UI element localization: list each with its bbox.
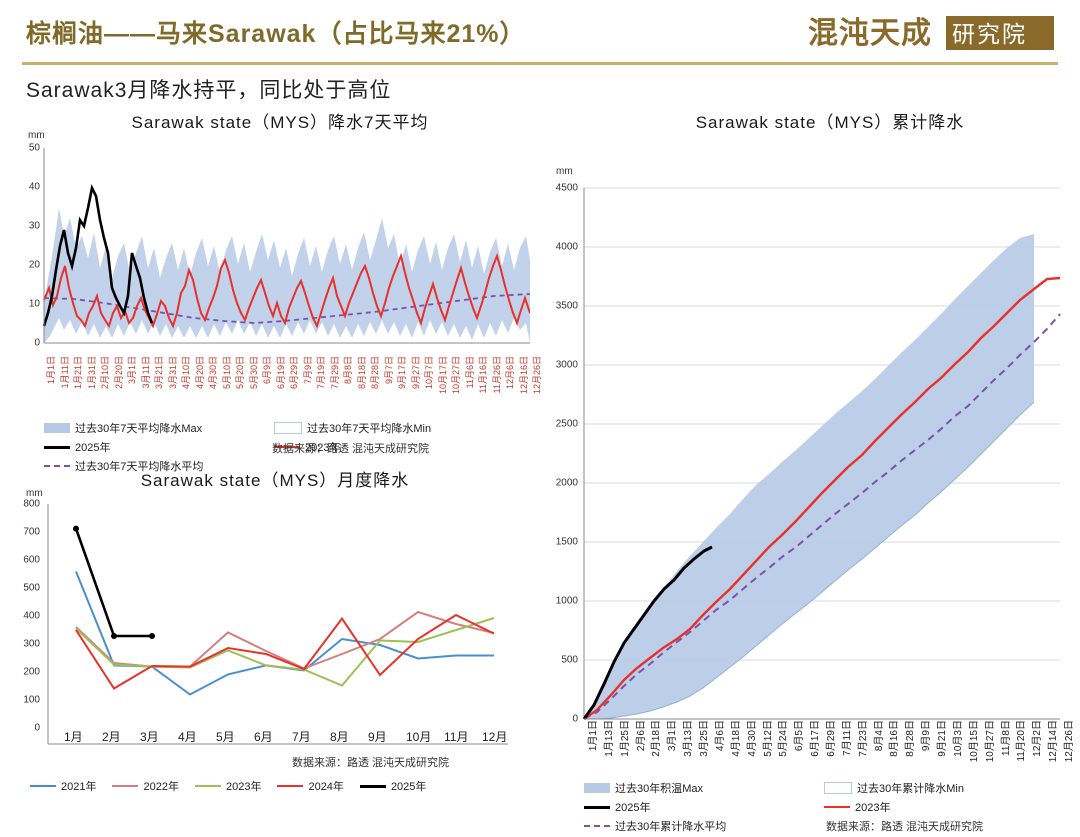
xtick: 5月12日 [759, 720, 774, 757]
legend-label: 过去30年7天平均降水Min [307, 420, 431, 436]
series-2025-line [76, 529, 152, 636]
chart-cumulative-source: 数据来源：路透 混沌天成研究院 [826, 818, 983, 834]
xtick: 4月20日 [193, 356, 206, 389]
xtick: 7月11日 [838, 720, 853, 756]
xtick: 12月2日 [1028, 720, 1043, 757]
xtick: 6月29日 [822, 720, 837, 757]
xtick: 5月10日 [220, 356, 233, 389]
legend-label: 过去30年7天平均降水Max [75, 420, 202, 436]
series-2023-line [76, 618, 494, 686]
xtick: 10月7日 [422, 356, 435, 389]
page-header: 棕榈油——马来Sarawak（占比马来21%） 混沌天成 研究院 [0, 0, 1080, 62]
legend-label: 2025年 [75, 439, 110, 455]
chart-daily7-plot [10, 123, 530, 373]
chart-cumulative-panel: Sarawak state（MYS）累计降水 mm 4500 4000 3500… [540, 108, 1080, 808]
xtick: 10月17日 [436, 356, 449, 394]
series-2024-line [76, 615, 494, 689]
legend-swatch-2021 [30, 785, 56, 787]
xtick: 2月10日 [98, 356, 111, 389]
xtick: 10月27日 [449, 356, 462, 394]
legend-swatch-2022 [112, 785, 138, 787]
xtick: 6月5日 [790, 720, 805, 751]
legend-label: 2022年 [143, 778, 178, 794]
xtick: 5月24日 [774, 720, 789, 757]
xtick: 1月31日 [85, 356, 98, 389]
chart-monthly-source: 数据来源：路透 混沌天成研究院 [292, 754, 449, 770]
chart-cumulative-title: Sarawak state（MYS）累计降水 [580, 108, 1080, 133]
xtick: 6月29日 [287, 356, 300, 389]
xtick: 9月 [368, 728, 387, 745]
band-area [584, 234, 1034, 719]
xtick: 8月4日 [870, 720, 885, 751]
legend-swatch-2023 [824, 806, 850, 808]
xtick: 7月 [292, 728, 311, 745]
chart-monthly-legend: 2021年 2022年 2023年 2024年 2025年 [30, 778, 530, 797]
xtick: 10月27日 [981, 720, 996, 762]
xtick: 5月20日 [233, 356, 246, 389]
xtick: 3月31日 [166, 356, 179, 389]
xtick: 4月30日 [206, 356, 219, 389]
xtick: 3月11日 [139, 356, 152, 388]
xtick: 12月 [482, 728, 507, 745]
xtick: 8月28日 [368, 356, 381, 389]
xtick: 2月20日 [112, 356, 125, 389]
chart-monthly-panel: Sarawak state（MYS）月度降水 mm 800 700 600 50… [10, 466, 530, 806]
xtick: 1月 [64, 728, 83, 745]
legend-swatch-max [584, 783, 610, 793]
legend-swatch-mean [584, 825, 610, 827]
legend-label: 2025年 [615, 799, 650, 815]
header-divider [22, 62, 1058, 65]
legend-swatch-2025 [44, 446, 70, 449]
xtick: 10月 [406, 728, 431, 745]
legend-swatch-2025 [584, 806, 610, 809]
xtick: 1月21日 [71, 356, 84, 389]
series-2022-line [76, 612, 494, 668]
page-subtitle: Sarawak3月降水持平，同比处于高位 [26, 74, 391, 104]
xtick: 1月25日 [616, 720, 631, 757]
chart-daily7-panel: Sarawak state（MYS）降水7天平均 mm 50 40 30 20 … [10, 108, 530, 458]
xtick: 4月 [178, 728, 197, 745]
xtick: 4月6日 [711, 720, 726, 751]
page-title: 棕榈油——马来Sarawak（占比马来21%） [26, 14, 526, 50]
legend-label: 2025年 [391, 778, 426, 794]
legend-label: 2024年 [308, 778, 343, 794]
xtick: 9月21日 [933, 720, 948, 757]
xtick: 12月6日 [503, 356, 516, 389]
xtick: 12月16日 [517, 356, 530, 394]
marker [149, 633, 155, 639]
xtick: 5月30日 [247, 356, 260, 389]
chart-monthly-plot [10, 482, 530, 762]
xtick: 3月1日 [125, 356, 138, 384]
chart-cumulative-plot [540, 138, 1070, 738]
xtick: 6月 [254, 728, 273, 745]
xtick: 7月29日 [328, 356, 341, 389]
xtick: 9月9日 [917, 720, 932, 751]
xtick: 3月1日 [663, 720, 678, 751]
series-2021-line [76, 572, 494, 695]
xtick: 9月7日 [382, 356, 395, 384]
xtick: 8月28日 [901, 720, 916, 757]
xtick: 6月19日 [274, 356, 287, 389]
marker [73, 526, 79, 532]
xtick: 5月 [216, 728, 235, 745]
xtick: 2月18日 [647, 720, 662, 757]
legend-label: 2023年 [855, 799, 890, 815]
xtick: 1月11日 [58, 356, 71, 388]
xtick: 7月19日 [314, 356, 327, 389]
xtick: 11月6日 [463, 356, 476, 388]
legend-label: 2023年 [226, 778, 261, 794]
xtick: 9月27日 [409, 356, 422, 389]
svg-text:研究院: 研究院 [952, 22, 1027, 47]
xtick: 1月1日 [584, 720, 599, 751]
xtick: 3月25日 [695, 720, 710, 757]
legend-swatch-max [44, 423, 70, 433]
legend-swatch-2025 [360, 785, 386, 788]
legend-swatch-min [274, 422, 302, 434]
xtick: 7月9日 [301, 356, 314, 384]
legend-swatch-2024 [277, 785, 303, 787]
xtick: 8月8日 [341, 356, 354, 384]
legend-label: 过去30年累计降水平均 [615, 818, 726, 834]
xtick: 4月10日 [179, 356, 192, 389]
chart-daily7-source: 数据来源：路透 混沌天成研究院 [272, 440, 429, 456]
xtick: 12月26日 [1060, 720, 1075, 762]
chart-cumulative-legend: 过去30年积温Max 2025年 过去30年累计降水平均 过去30年累计降水Mi… [584, 780, 1074, 837]
xtick: 3月 [140, 728, 159, 745]
xtick: 8月 [330, 728, 349, 745]
xtick: 11月20日 [1012, 720, 1027, 762]
band-max-area [44, 208, 530, 343]
marker [111, 633, 117, 639]
legend-label: 过去30年累计降水Min [857, 780, 964, 796]
legend-label: 2021年 [61, 778, 96, 794]
xtick: 4月30日 [743, 720, 758, 757]
xtick: 6月17日 [806, 720, 821, 757]
legend-label: 过去30年积温Max [615, 780, 703, 796]
company-logo: 混沌天成 研究院 [808, 10, 1058, 56]
xtick: 9月17日 [395, 356, 408, 389]
xtick: 3月21日 [152, 356, 165, 389]
xtick: 2月 [102, 728, 121, 745]
chart-monthly-xticks: 1月2月3月4月5月6月7月8月9月10月11月12月 [48, 728, 528, 748]
xtick: 1月1日 [44, 356, 57, 384]
xtick: 11月16日 [476, 356, 489, 393]
xtick: 11月8日 [997, 720, 1012, 756]
xtick: 8月18日 [355, 356, 368, 389]
xtick: 3月13日 [679, 720, 694, 757]
chart-daily7-xticks: 1月1日1月11日1月21日1月31日2月10日2月20日3月1日3月11日3月… [44, 356, 534, 426]
svg-text:混沌天成: 混沌天成 [808, 17, 932, 50]
legend-swatch-2023 [195, 785, 221, 787]
xtick: 1月13日 [600, 720, 615, 757]
xtick: 10月3日 [949, 720, 964, 757]
xtick: 6月9日 [260, 356, 273, 384]
xtick: 10月15日 [965, 720, 980, 762]
xtick: 7月23日 [854, 720, 869, 757]
xtick: 12月14日 [1044, 720, 1059, 762]
xtick: 4月18日 [727, 720, 742, 757]
xtick: 11月 [444, 728, 468, 745]
xtick: 11月26日 [490, 356, 503, 393]
legend-swatch-min [824, 782, 852, 794]
xtick: 8月16日 [885, 720, 900, 757]
xtick: 2月6日 [632, 720, 647, 751]
